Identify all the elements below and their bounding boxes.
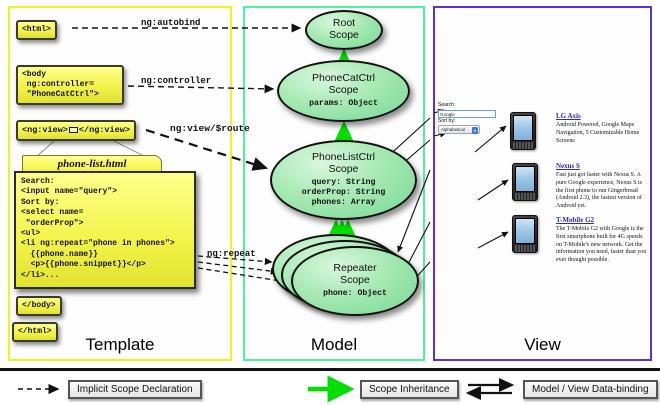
note-title: phone-list.html bbox=[22, 155, 162, 171]
search-label: Search: bbox=[438, 102, 500, 110]
chevron-down-icon: ▾ bbox=[472, 127, 478, 134]
sort-select[interactable]: Alphabetical ▾ bbox=[438, 125, 480, 134]
legend-item-implicit: Implicit Scope Declaration bbox=[18, 380, 202, 399]
legend: Implicit Scope Declaration Scope Inherit… bbox=[0, 368, 660, 405]
code-box-body-open: <body ng:controller= "PhoneCatCtrl"> bbox=[16, 65, 124, 105]
scope-root-title: Root Scope bbox=[329, 18, 359, 42]
column-label-model: Model bbox=[245, 335, 423, 355]
code-box-html-open: <html> bbox=[16, 20, 57, 40]
connector-label-controller: ng:controller bbox=[141, 76, 211, 86]
phone-list-item: Nexus S Fast just got faster with Nexus … bbox=[556, 162, 648, 211]
phone-name-link[interactable]: T-Mobile G2 bbox=[556, 216, 648, 224]
scope-phonelistctrl-title: PhoneListCtrl Scope bbox=[312, 152, 375, 176]
scope-phonecatctrl-props: params: Object bbox=[309, 99, 378, 109]
sort-select-value: Alphabetical bbox=[441, 127, 465, 132]
scope-repeater-title: Repeater Scope bbox=[333, 263, 376, 287]
code-box-html-close: </html> bbox=[12, 322, 58, 342]
phone-name-link[interactable]: LG Axis bbox=[556, 112, 648, 120]
legend-item-inheritance: Scope Inheritance bbox=[308, 380, 459, 399]
phone-name-link[interactable]: Nexus S bbox=[556, 162, 648, 170]
phone-thumbnail-2 bbox=[512, 163, 538, 201]
legend-item-databinding: Model / View Data-binding bbox=[468, 380, 658, 399]
phone-snippet: The T-Mobile G2 with Google is the first… bbox=[556, 226, 648, 265]
ngview-close-tag: </ng:view> bbox=[79, 125, 130, 135]
sort-label: Sort by: bbox=[438, 118, 500, 126]
legend-label-databinding: Model / View Data-binding bbox=[523, 380, 658, 399]
column-label-view: View bbox=[435, 335, 650, 355]
code-box-body-close: </body> bbox=[16, 296, 62, 316]
search-sort-widget: Search: Google Sort by: Alphabetical ▾ bbox=[438, 102, 500, 134]
phone-snippet: Android Powered, Google Maps Navigation,… bbox=[556, 122, 648, 145]
phone-keyboard-icon bbox=[513, 142, 533, 149]
connector-label-autobind: ng:autobind bbox=[141, 18, 200, 28]
scope-phonelistctrl-props: query: String orderProp: String phones: … bbox=[302, 178, 386, 208]
code-box-ngview: <ng:view></ng:view> bbox=[16, 120, 136, 141]
scope-repeater: Repeater Scope phone: Object bbox=[291, 246, 419, 316]
note-code: Search: <input name="query"> Sort by: <s… bbox=[14, 171, 196, 289]
connector-label-route: ng:view/$route bbox=[170, 123, 250, 134]
phone-list-item: LG Axis Android Powered, Google Maps Nav… bbox=[556, 112, 648, 145]
legend-label-inheritance: Scope Inheritance bbox=[360, 380, 459, 399]
phone-snippet: Fast just got faster with Nexus S. A pur… bbox=[556, 172, 648, 211]
ngview-open-tag: <ng:view> bbox=[22, 125, 68, 135]
diagram-canvas: Template Model View bbox=[0, 0, 660, 405]
phone-list-item: T-Mobile G2 The T-Mobile G2 with Google … bbox=[556, 216, 648, 265]
scope-phonecatctrl-title: PhoneCatCtrl Scope bbox=[312, 73, 375, 97]
scope-phonecatctrl: PhoneCatCtrl Scope params: Object bbox=[277, 60, 410, 122]
phone-thumbnail-1 bbox=[510, 112, 536, 150]
search-input[interactable]: Google bbox=[438, 110, 496, 118]
phone-thumbnail-3 bbox=[512, 215, 538, 253]
scope-phonelistctrl: PhoneListCtrl Scope query: String orderP… bbox=[270, 140, 417, 220]
scope-root: Root Scope bbox=[305, 10, 383, 50]
phone-screen-icon bbox=[515, 166, 535, 192]
phone-keyboard-icon bbox=[515, 245, 535, 252]
phone-keyboard-icon bbox=[515, 193, 535, 200]
ngview-slot-icon bbox=[69, 127, 78, 133]
phone-screen-icon bbox=[513, 115, 533, 141]
scope-repeater-props: phone: Object bbox=[323, 289, 387, 299]
phone-list-note: phone-list.html Search: <input name="que… bbox=[14, 155, 196, 289]
legend-label-implicit: Implicit Scope Declaration bbox=[68, 380, 202, 399]
connector-label-repeat: ng:repeat bbox=[207, 249, 256, 259]
phone-screen-icon bbox=[515, 218, 535, 244]
